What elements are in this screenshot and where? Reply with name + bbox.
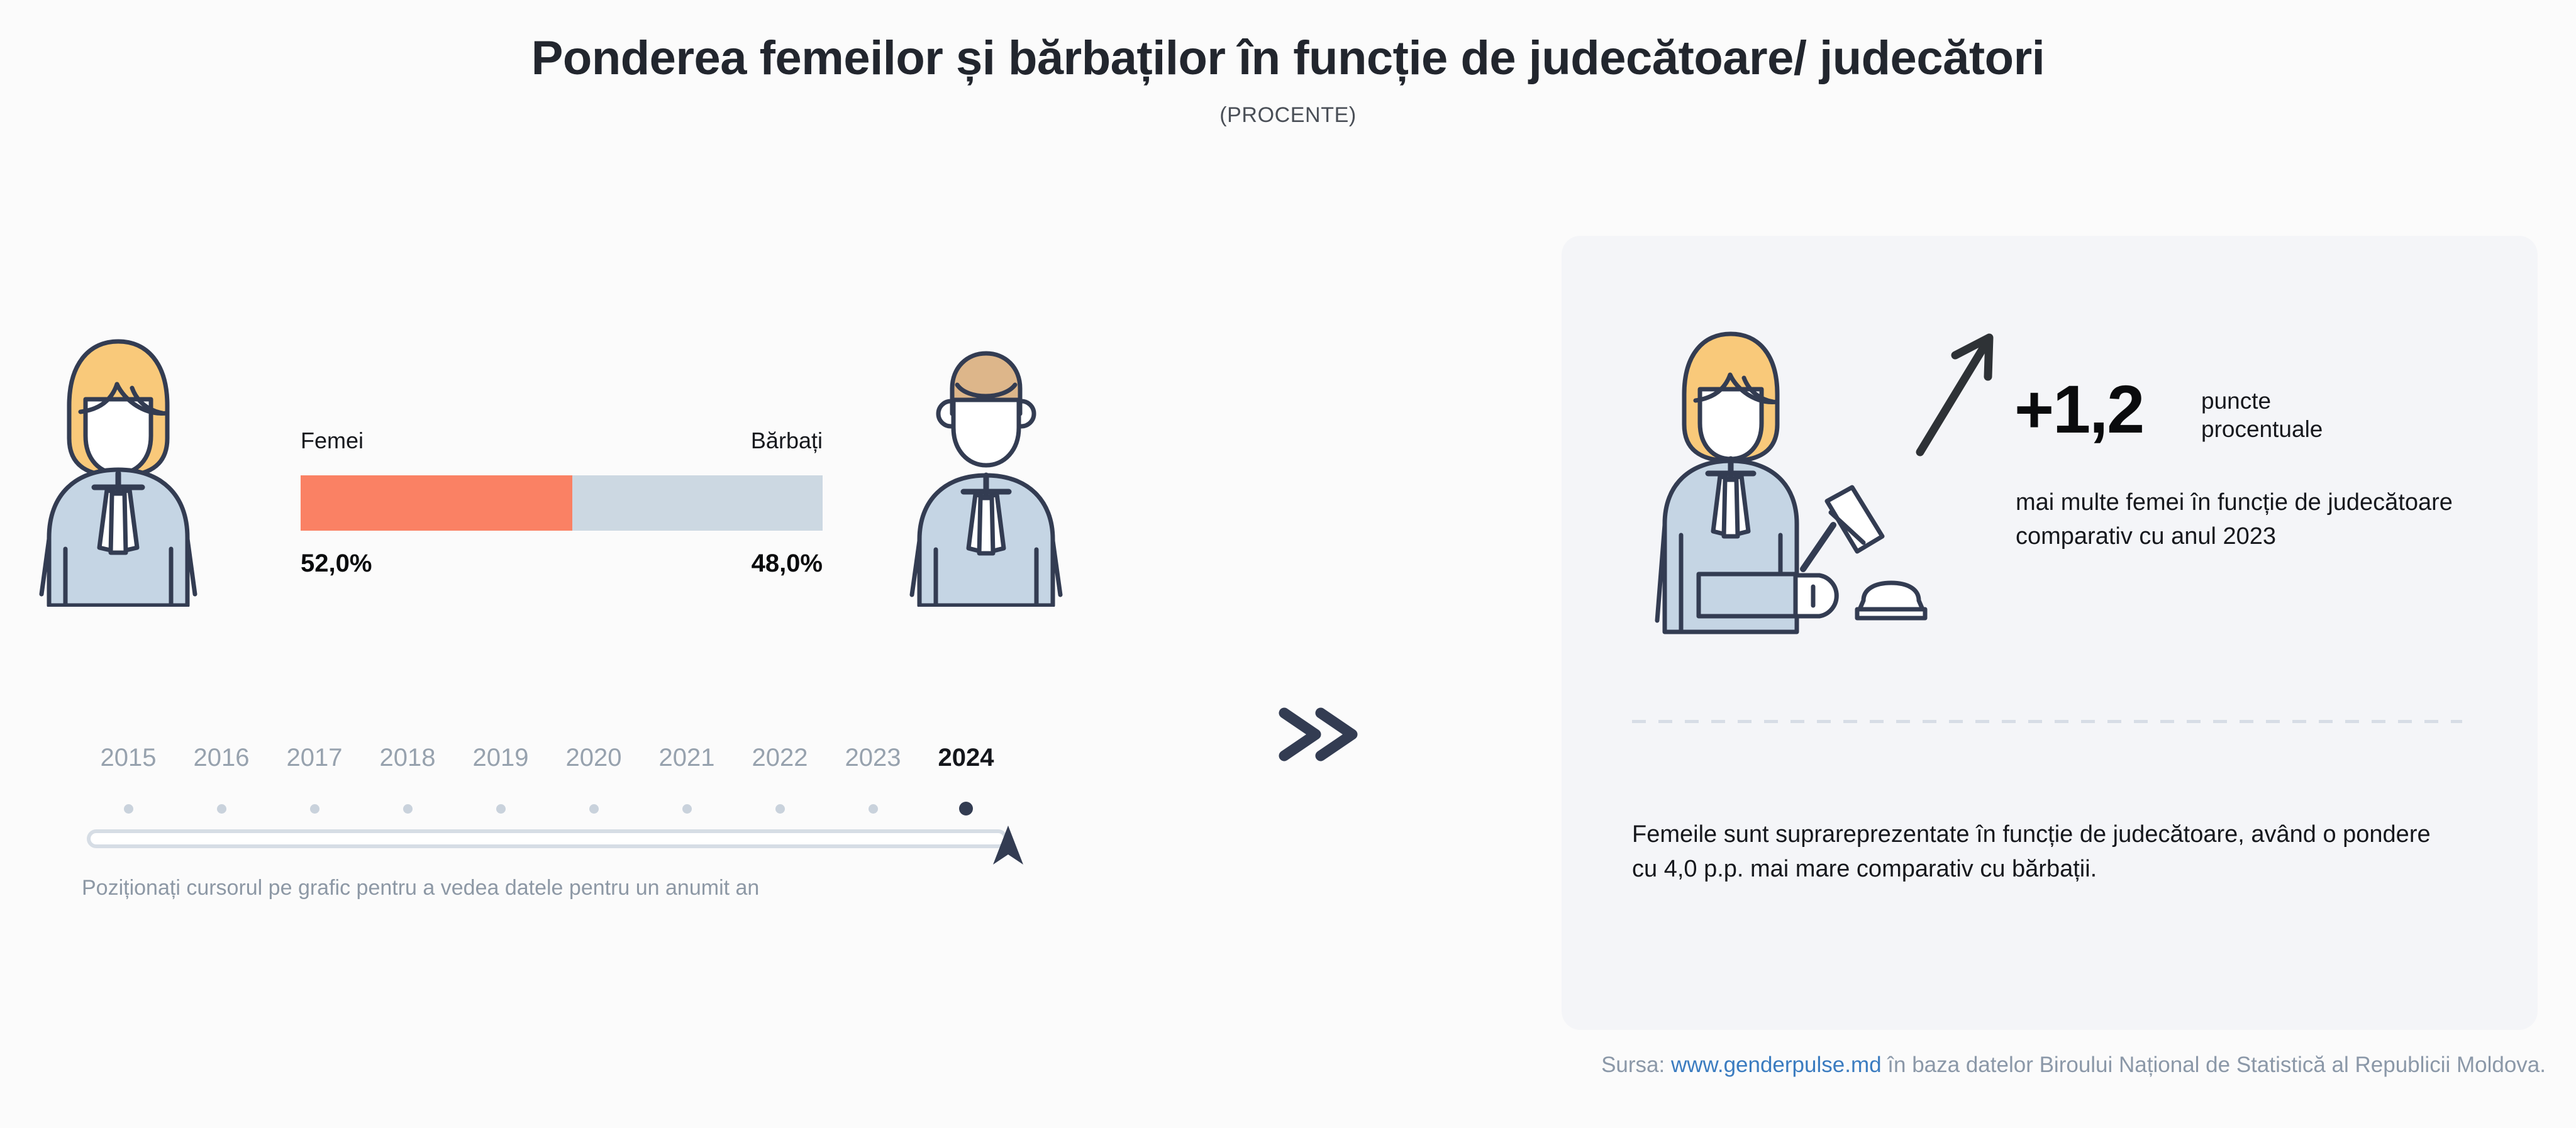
timeline-year-2023[interactable]: 2023 [826,745,919,784]
card-note-text: Femeile sunt suprareprezentate în funcți… [1632,817,2450,887]
timeline-year-2017[interactable]: 2017 [268,745,361,784]
male-judge-avatar [898,340,1074,607]
timeline-slider[interactable] [82,823,1013,861]
year-timeline[interactable]: 2015 2016 2017 2018 2019 2020 2021 2022 … [82,745,1038,909]
timeline-year-2016[interactable]: 2016 [175,745,268,784]
timeline-year-2022[interactable]: 2022 [733,745,826,784]
timeline-dot-cell-2024[interactable] [919,798,1013,819]
source-footer: Sursa: www.genderpulse.md în baza datelo… [0,1053,2576,1078]
infographic-root: Ponderea femeilor și bărbaților în funcț… [0,0,2576,1128]
timeline-dot-icon-active [959,802,973,816]
change-unit: puncte procentuale [2201,387,2323,443]
gender-share-bar: Femei Bărbați 52,0% 48,0% [301,428,823,585]
change-unit-line2: procentuale [2201,415,2323,443]
bar-value-labels: 52,0% 48,0% [301,550,823,585]
change-description: mai multe femei în funcție de judecătoar… [2016,486,2525,554]
insight-card: +1,2 puncte procentuale mai multe femei … [1562,236,2538,1030]
timeline-dot-cell-2019[interactable] [454,798,547,819]
timeline-dot-icon [310,804,319,814]
double-chevron-right-icon [1272,697,1366,772]
timeline-hint-text: Poziționați cursorul pe grafic pentru a … [82,876,759,900]
timeline-dot-cell-2015[interactable] [82,798,175,819]
timeline-dot-cell-2022[interactable] [733,798,826,819]
timeline-dot-icon [124,804,133,814]
timeline-dots [82,798,1013,819]
card-divider [1632,720,2462,723]
timeline-dot-cell-2016[interactable] [175,798,268,819]
source-prefix: Sursa: [1601,1053,1671,1077]
timeline-dot-icon [403,804,413,814]
bar-track[interactable] [301,475,823,531]
change-unit-line1: puncte [2201,387,2323,415]
timeline-dot-cell-2020[interactable] [547,798,640,819]
timeline-dot-icon [775,804,785,814]
page-title: Ponderea femeilor și bărbaților în funcț… [0,33,2576,84]
timeline-handle-marker-icon[interactable] [989,822,1028,868]
bar-legend: Femei Bărbați [301,428,823,455]
change-value: +1,2 [2014,375,2143,443]
timeline-year-2018[interactable]: 2018 [361,745,454,784]
timeline-dot-cell-2017[interactable] [268,798,361,819]
bar-segment-women[interactable] [301,475,572,531]
timeline-dot-cell-2018[interactable] [361,798,454,819]
timeline-dot-icon [496,804,506,814]
timeline-dot-icon [682,804,692,814]
timeline-dot-icon [869,804,878,814]
female-judge-with-gavel-icon [1645,305,1940,638]
timeline-year-2021[interactable]: 2021 [640,745,733,784]
timeline-year-2019[interactable]: 2019 [454,745,547,784]
timeline-dot-cell-2023[interactable] [826,798,919,819]
timeline-year-labels: 2015 2016 2017 2018 2019 2020 2021 2022 … [82,745,1013,784]
legend-women-label: Femei [301,428,364,454]
timeline-dot-cell-2021[interactable] [640,798,733,819]
value-women: 52,0% [301,550,372,578]
timeline-dot-icon [217,804,226,814]
legend-men-label: Bărbați [751,428,823,454]
timeline-year-2020[interactable]: 2020 [547,745,640,784]
source-link[interactable]: www.genderpulse.md [1671,1053,1882,1077]
arrow-up-right-icon [1909,324,2009,462]
timeline-year-2015[interactable]: 2015 [82,745,175,784]
timeline-dot-icon [589,804,599,814]
bar-segment-men[interactable] [572,475,823,531]
source-suffix: în baza datelor Biroului Național de Sta… [1882,1053,2546,1077]
value-men: 48,0% [752,550,823,578]
page-subtitle: (PROCENTE) [0,103,2576,128]
female-judge-avatar [24,305,213,607]
timeline-year-2024[interactable]: 2024 [919,745,1013,784]
timeline-rail[interactable] [87,829,1008,848]
